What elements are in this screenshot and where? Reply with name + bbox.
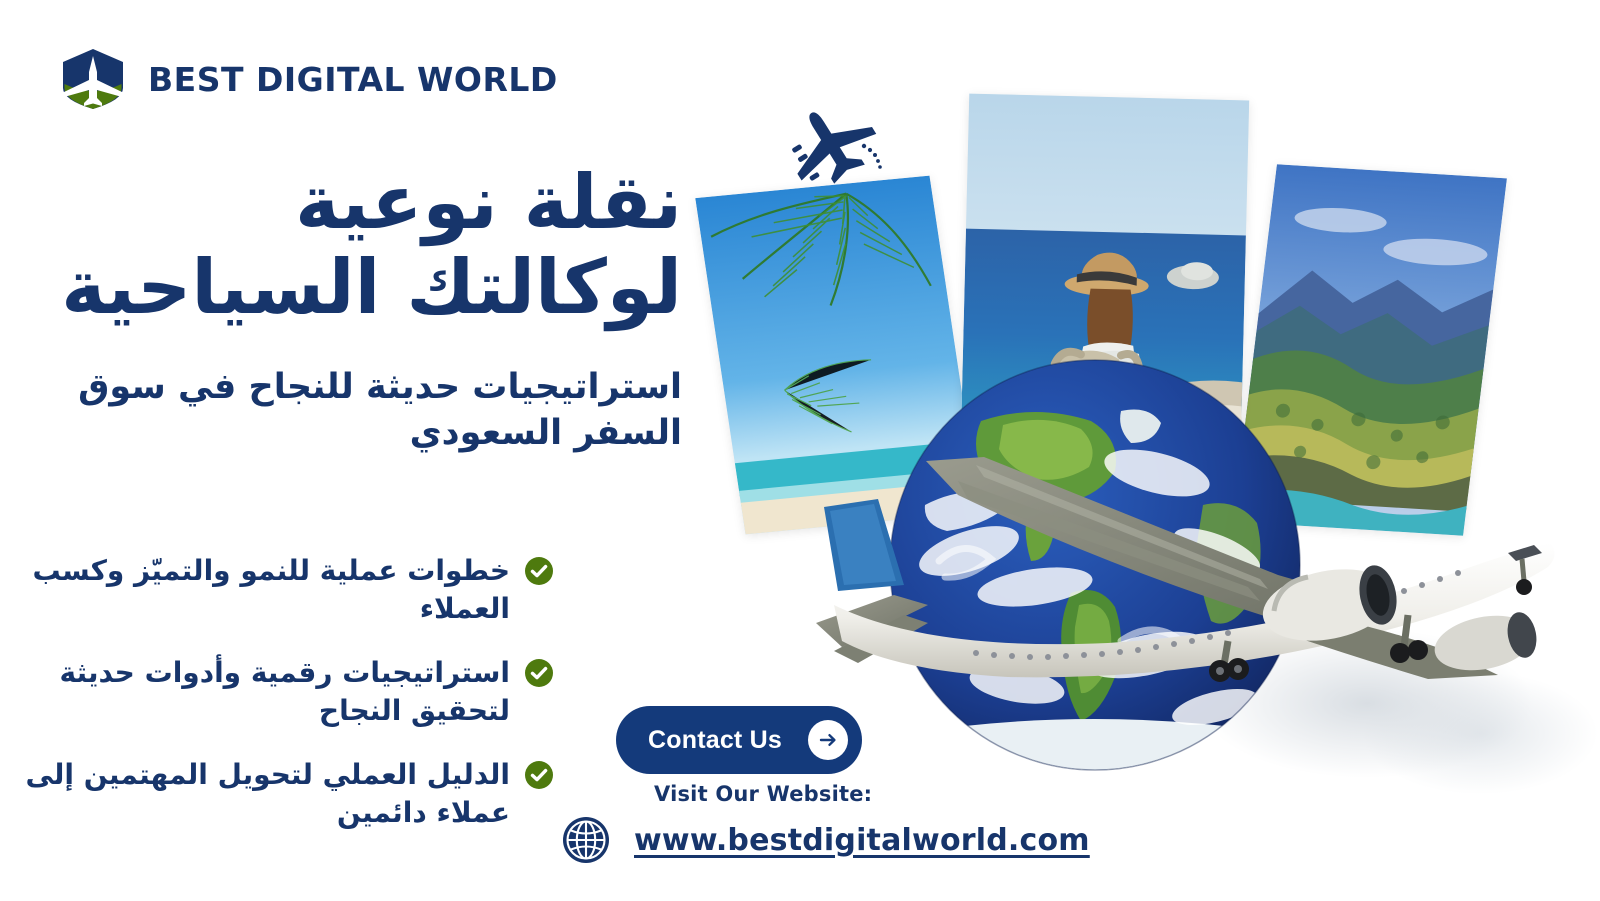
subheadline: استراتيجيات حديثة للنجاح في سوق السفر ال… [0,364,700,456]
list-item-label: استراتيجيات رقمية وأدوات حديثة لتحقيق ال… [0,654,510,730]
check-circle-icon [524,760,554,790]
shield-airplane-icon [60,48,126,110]
brand-name: BEST DIGITAL WORLD [148,60,558,99]
travel-collage [700,0,1600,901]
page-title: نقلة نوعية لوكالتك السياحية [0,160,700,330]
airliner-image [808,455,1568,715]
list-item: استراتيجيات رقمية وأدوات حديثة لتحقيق ال… [0,654,560,730]
globe-icon [560,814,612,866]
headline-line-1: نقلة نوعية [0,160,682,245]
benefits-list: خطوات عملية للنمو والتميّز وكسب العملاء … [0,552,560,858]
list-item: الدليل العملي لتحويل المهتمين إلى عملاء … [0,756,560,832]
list-item-label: الدليل العملي لتحويل المهتمين إلى عملاء … [0,756,510,832]
headline-line-2: لوكالتك السياحية [0,245,682,330]
hero-text-block: نقلة نوعية لوكالتك السياحية استراتيجيات … [0,160,700,456]
airplane-doodle-icon [778,100,898,185]
poster-canvas: BEST DIGITAL WORLD نقلة نوعية لوكالتك ال… [0,0,1600,901]
list-item-label: خطوات عملية للنمو والتميّز وكسب العملاء [0,552,510,628]
list-item: خطوات عملية للنمو والتميّز وكسب العملاء [0,552,560,628]
check-circle-icon [524,556,554,586]
check-circle-icon [524,658,554,688]
brand-logo[interactable]: BEST DIGITAL WORLD [60,48,558,110]
